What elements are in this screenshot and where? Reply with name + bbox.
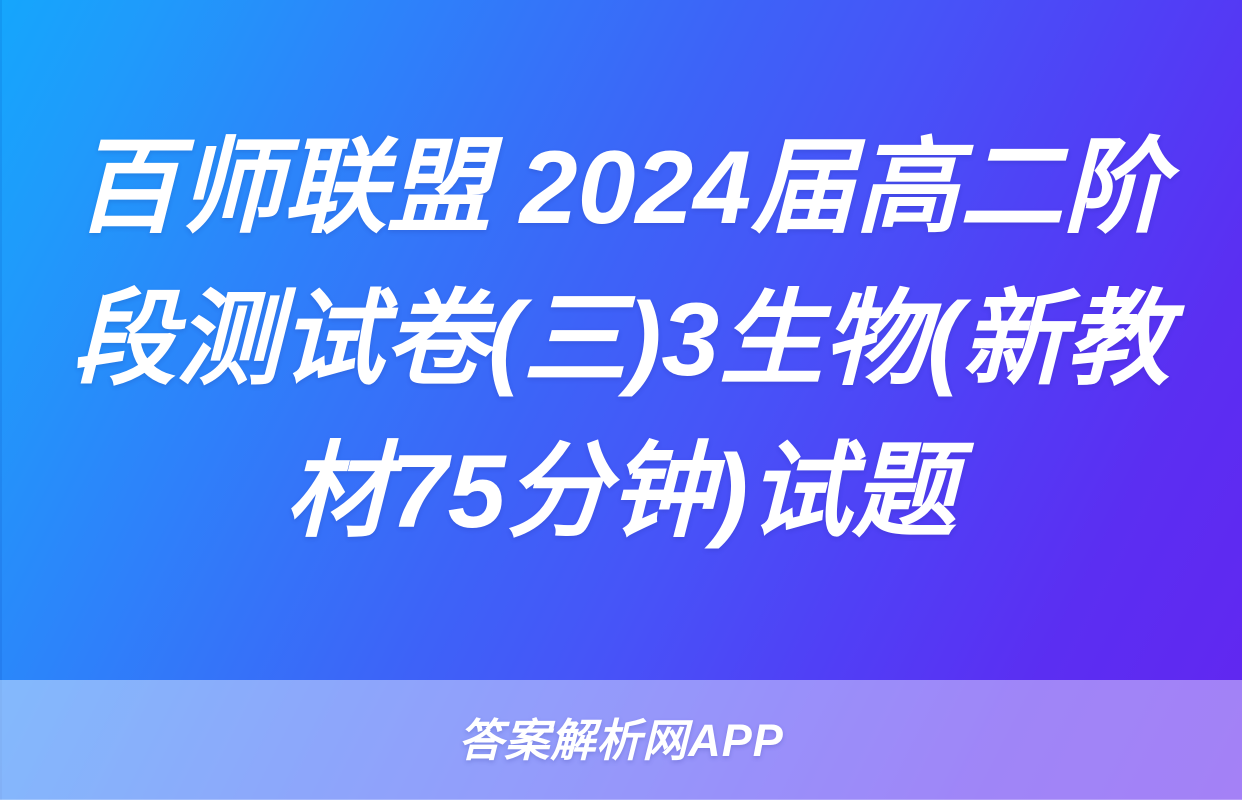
cover-card: 百师联盟 2024届高二阶段测试卷(三)3生物(新教材75分钟)试题 答案解析网…	[0, 0, 1242, 800]
page-title: 百师联盟 2024届高二阶段测试卷(三)3生物(新教材75分钟)试题	[62, 112, 1180, 568]
title-block: 百师联盟 2024届高二阶段测试卷(三)3生物(新教材75分钟)试题	[0, 0, 1242, 680]
watermark-band: 答案解析网APP	[0, 680, 1242, 800]
watermark-label: 答案解析网APP	[458, 718, 784, 763]
